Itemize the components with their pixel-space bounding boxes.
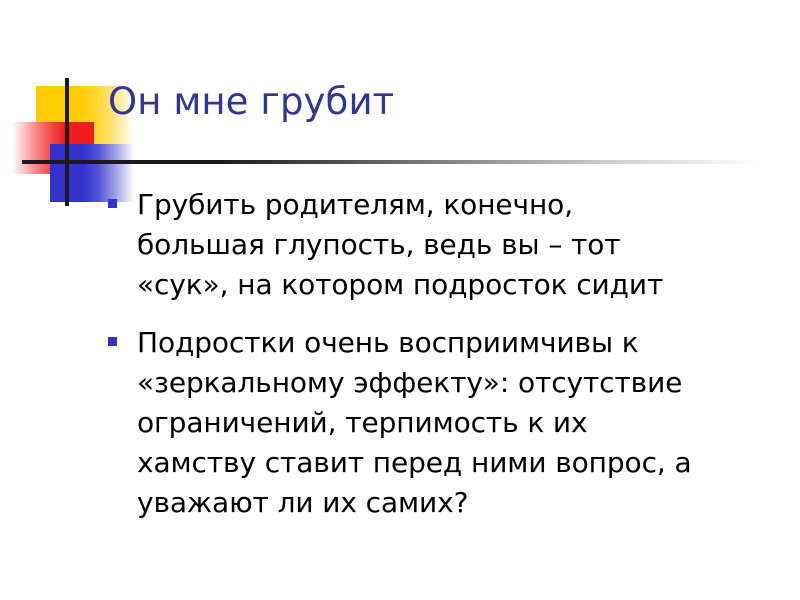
bullet-line: большая глупость, ведь вы – тот (137, 225, 778, 265)
bullet-line: уважают ли их самих? (137, 483, 778, 523)
presentation-slide: Он мне грубит Грубить родителям, конечно… (0, 0, 800, 600)
bullet-line: ограничений, терпимость к их (137, 403, 778, 443)
horizontal-rule (22, 160, 762, 164)
list-item: Грубить родителям, конечно, большая глуп… (108, 185, 778, 305)
slide-body: Грубить родителям, конечно, большая глуп… (108, 185, 778, 523)
red-square-icon (12, 122, 94, 174)
square-bullet-icon (108, 199, 117, 208)
bullet-text: Грубить родителям, конечно, большая глуп… (137, 185, 778, 305)
bullet-line: Подростки очень восприимчивы к (137, 323, 778, 363)
bullet-line: хамству ставит перед ними вопрос, а (137, 443, 778, 483)
bullet-text: Подростки очень восприимчивы к «зеркальн… (137, 323, 778, 523)
bullet-line: «сук», на котором подросток сидит (137, 265, 778, 305)
list-item: Подростки очень восприимчивы к «зеркальн… (108, 323, 778, 523)
bullet-line: «зеркальному эффекту»: отсутствие (137, 363, 778, 403)
slide-title: Он мне грубит (108, 80, 768, 124)
bullet-line: Грубить родителям, конечно, (137, 185, 778, 225)
square-bullet-icon (108, 337, 117, 346)
vertical-rule (65, 78, 69, 206)
